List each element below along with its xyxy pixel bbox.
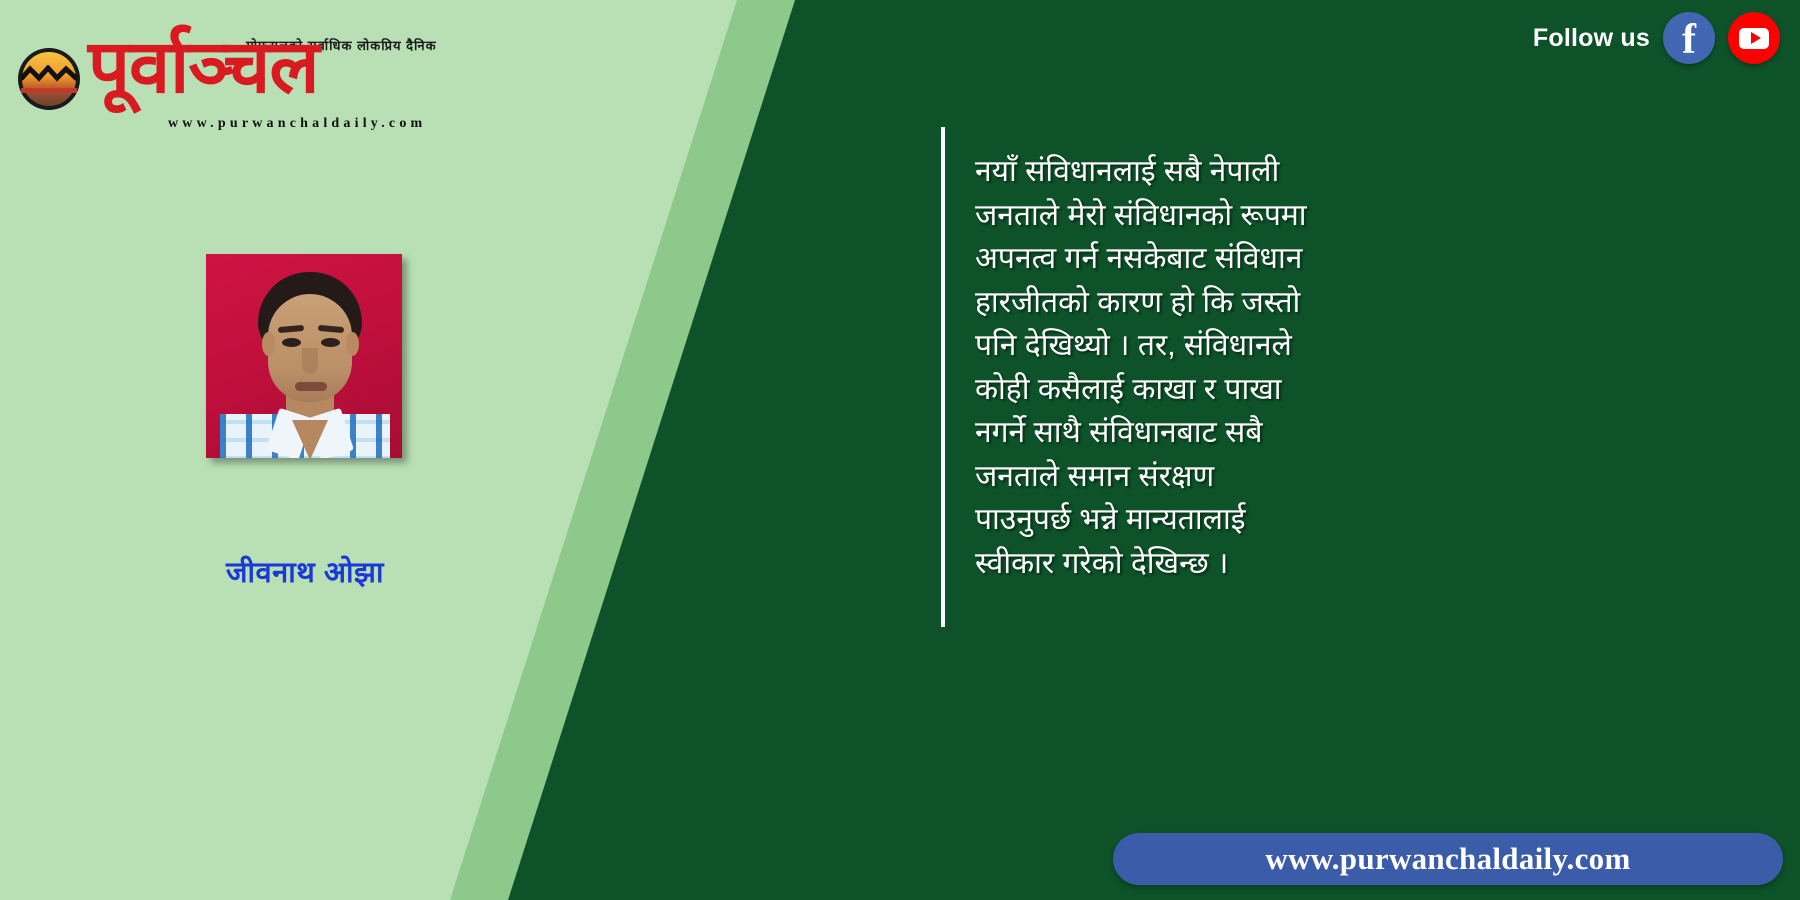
newspaper-logo[interactable]: मोफसलको सर्वाधिक लोकप्रिय दैनिक पूर्वाञ्… xyxy=(18,14,418,126)
footer-url-label: www.purwanchaldaily.com xyxy=(1265,841,1630,877)
quote-vertical-rule xyxy=(941,127,945,627)
quote-text-block: नयाँ संविधानलाई सबै नेपाली जनताले मेरो स… xyxy=(975,150,1395,585)
quote-line: हारजीतको कारण हो कि जस्तो xyxy=(975,281,1395,325)
follow-us-label: Follow us xyxy=(1533,24,1650,53)
quote-line: कोही कसैलाई काखा र पाखा xyxy=(975,368,1395,412)
quote-line: नगर्ने साथै संविधानबाट सबै xyxy=(975,411,1395,455)
quote-line: जनताले मेरो संविधानको रूपमा xyxy=(975,194,1395,238)
logo-title: पूर्वाञ्चल xyxy=(88,30,319,104)
quote-line: पनि देखिथ्यो । तर, संविधानले xyxy=(975,324,1395,368)
quote-line: स्वीकार गरेको देखिन्छ । xyxy=(975,542,1395,586)
sunrise-mountain-emblem-icon xyxy=(18,48,80,110)
portrait-caption: जीवनाथ ओझा xyxy=(140,552,470,591)
youtube-icon[interactable] xyxy=(1728,12,1780,64)
quote-line: पाउनुपर्छ भन्ने मान्यतालाई xyxy=(975,498,1395,542)
quote-line: जनताले समान संरक्षण xyxy=(975,455,1395,499)
facebook-icon[interactable]: f xyxy=(1663,12,1715,64)
logo-website-url: www.purwanchaldaily.com xyxy=(168,116,426,132)
quote-line: अपनत्व गर्न नसकेबाट संविधान xyxy=(975,237,1395,281)
footer-url-pill[interactable]: www.purwanchaldaily.com xyxy=(1113,833,1783,885)
follow-us-group: Follow us f xyxy=(1533,12,1780,64)
poster-canvas: मोफसलको सर्वाधिक लोकप्रिय दैनिक पूर्वाञ्… xyxy=(0,0,1800,900)
quote-line: नयाँ संविधानलाई सबै नेपाली xyxy=(975,150,1395,194)
portrait-photo xyxy=(206,254,402,458)
